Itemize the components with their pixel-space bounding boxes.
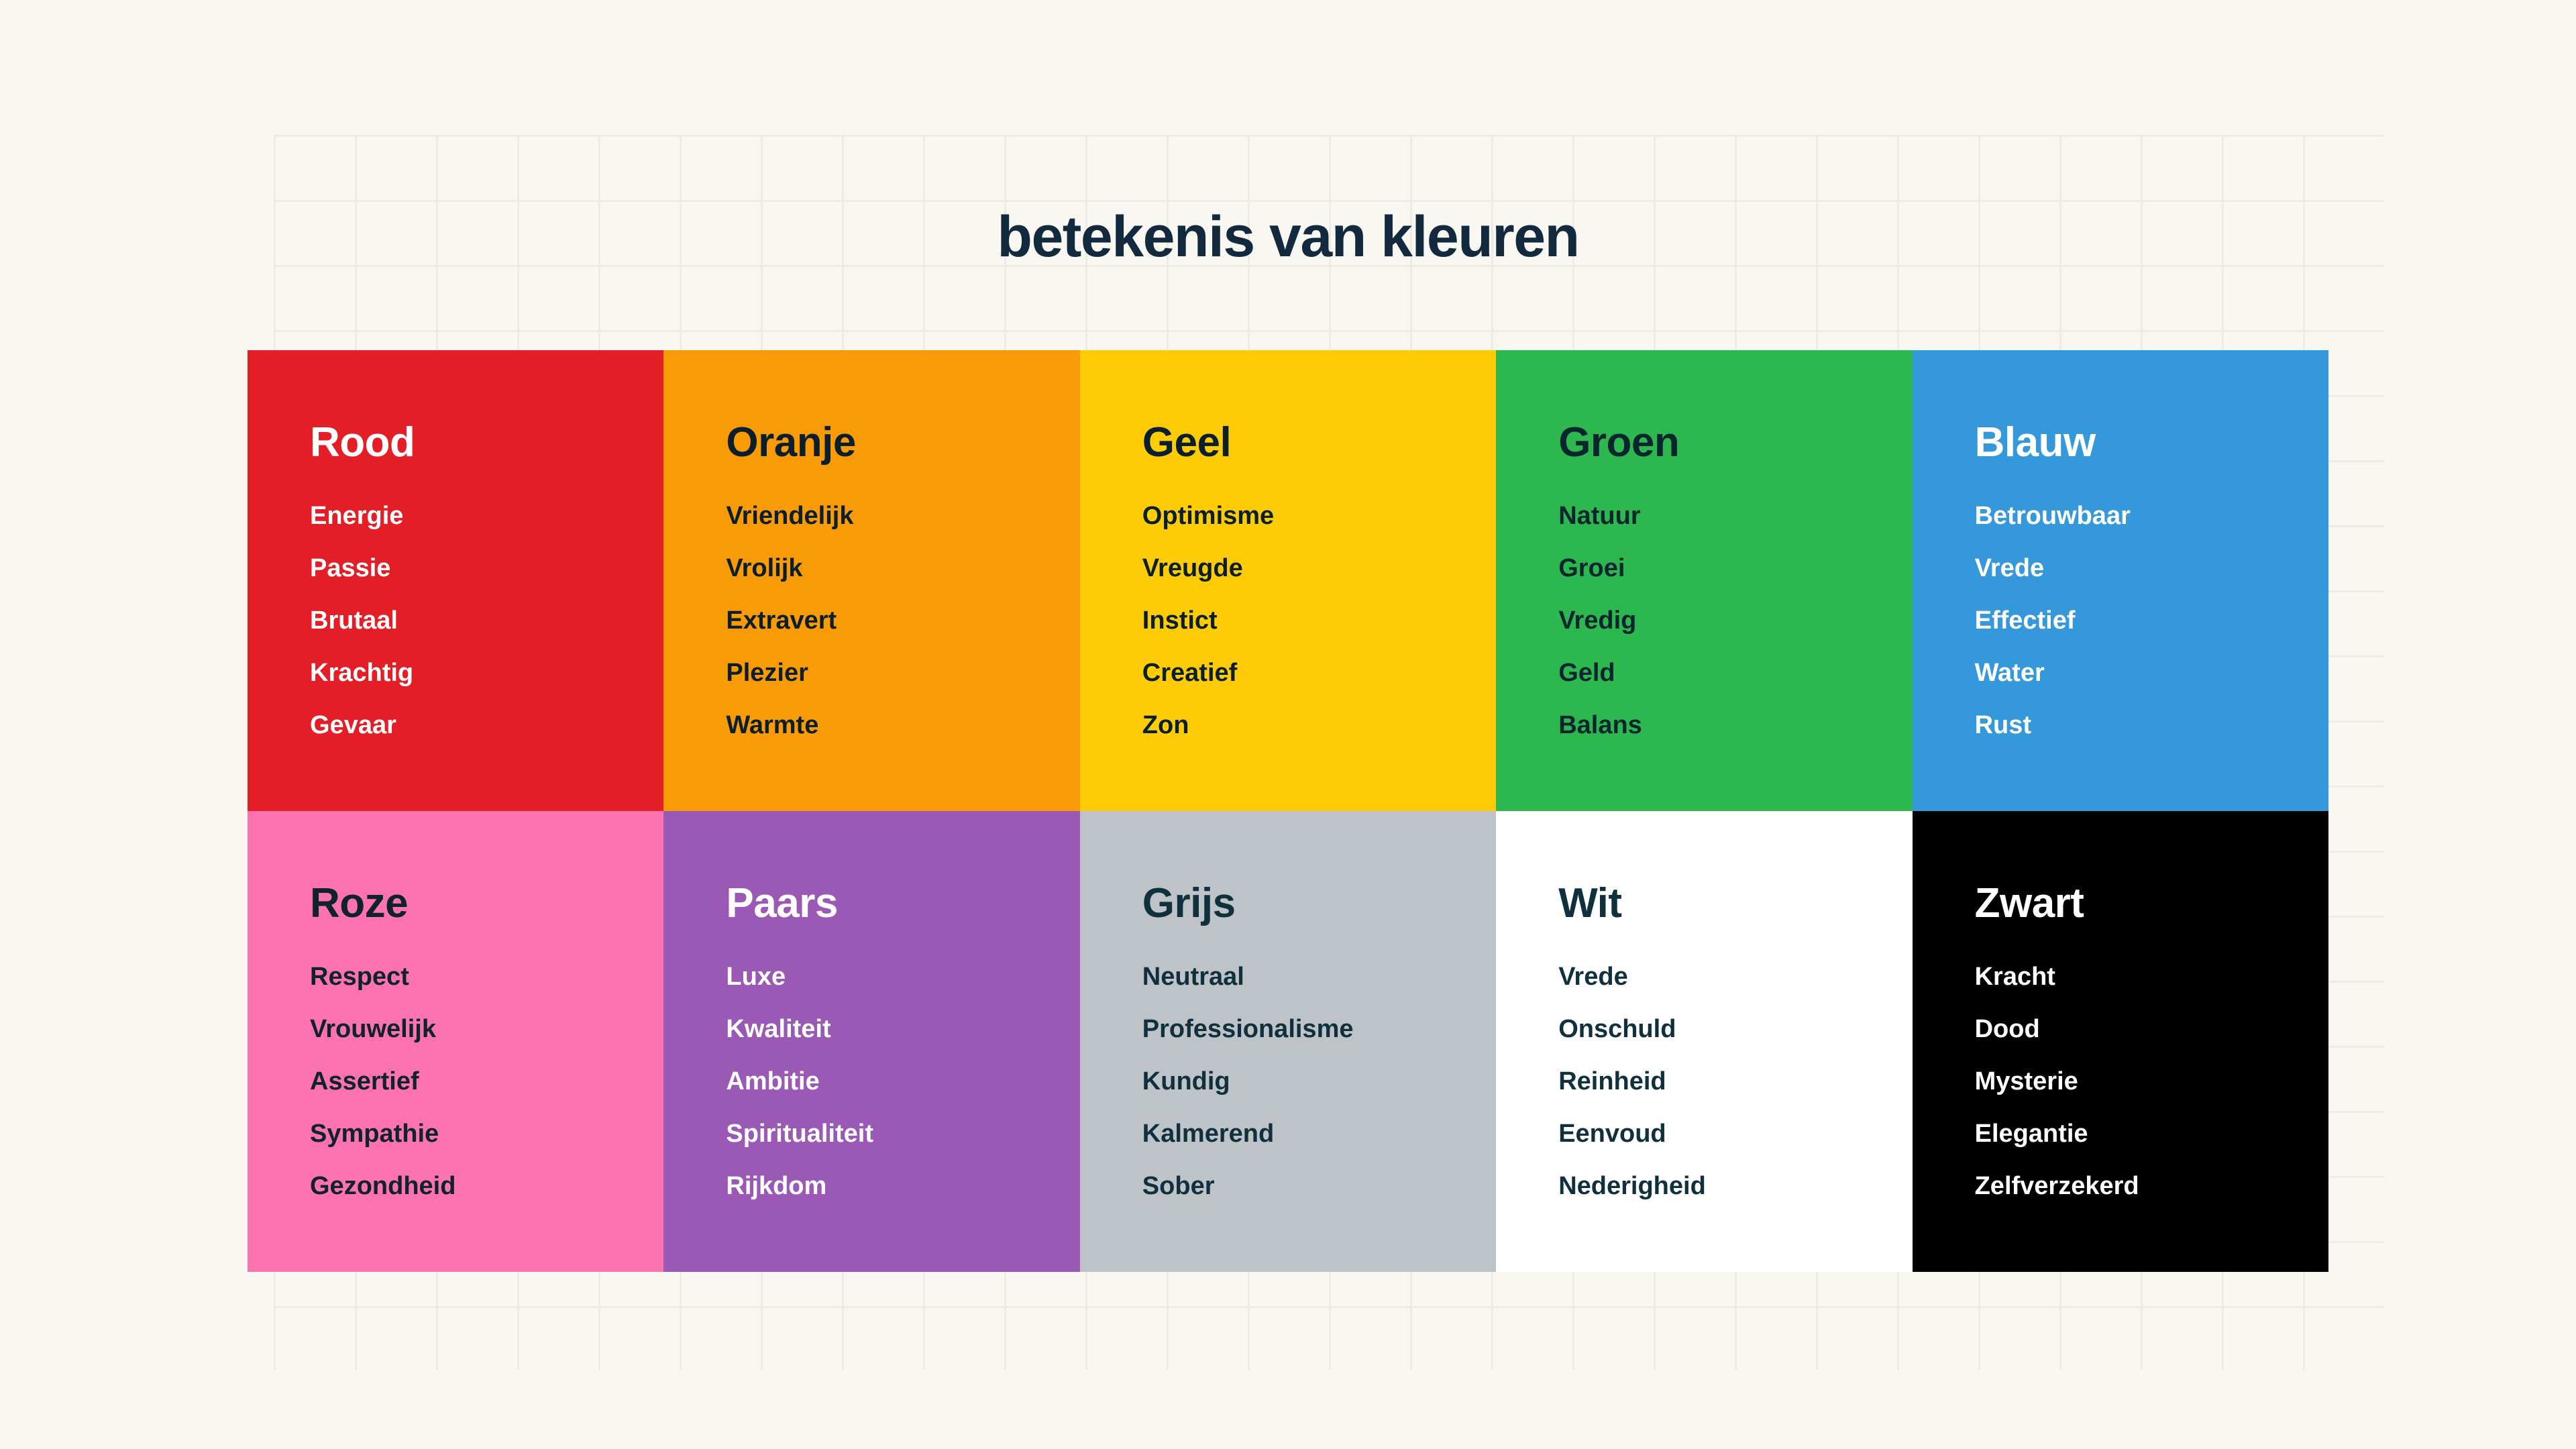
color-keyword-item: Neutraal [1142,964,1496,989]
color-keyword-item: Professionalisme [1142,1016,1496,1042]
color-keyword-item: Energie [310,503,663,529]
color-keyword-list: EnergiePassieBrutaalKrachtigGevaar [310,503,663,738]
color-keyword-item: Water [1975,660,2328,686]
color-keyword-item: Rijkdom [726,1173,1079,1199]
color-card-title: Zwart [1975,881,2328,925]
color-keyword-item: Kalmerend [1142,1121,1496,1146]
color-keyword-item: Rust [1975,712,2328,738]
color-keyword-item: Dood [1975,1016,2328,1042]
color-keyword-list: KrachtDoodMysterieElegantieZelfverzekerd [1975,964,2328,1199]
color-card-groen[interactable]: GroenNatuurGroeiVredigGeldBalans [1496,350,1912,811]
color-keyword-item: Onschuld [1558,1016,1912,1042]
color-keyword-list: RespectVrouwelijkAssertiefSympathieGezon… [310,964,663,1199]
color-keyword-item: Eenvoud [1558,1121,1912,1146]
color-keyword-list: VriendelijkVrolijkExtravertPlezierWarmte [726,503,1079,738]
color-card-title: Grijs [1142,881,1496,925]
color-card-wit[interactable]: WitVredeOnschuldReinheidEenvoudNederighe… [1496,811,1912,1272]
color-keyword-item: Krachtig [310,660,663,686]
color-card-roze[interactable]: RozeRespectVrouwelijkAssertiefSympathieG… [248,811,663,1272]
color-keyword-item: Vrede [1558,964,1912,989]
color-keyword-item: Vrolijk [726,555,1079,581]
color-card-title: Paars [726,881,1079,925]
color-keyword-item: Spiritualiteit [726,1121,1079,1146]
color-keyword-list: NeutraalProfessionalismeKundigKalmerendS… [1142,964,1496,1199]
color-card-title: Oranje [726,421,1079,464]
color-keyword-item: Kundig [1142,1069,1496,1094]
color-keyword-item: Vrede [1975,555,2328,581]
color-keyword-item: Mysterie [1975,1069,2328,1094]
color-keyword-list: BetrouwbaarVredeEffectiefWaterRust [1975,503,2328,738]
color-card-title: Groen [1558,421,1912,464]
color-keyword-item: Creatief [1142,660,1496,686]
color-keyword-item: Sober [1142,1173,1496,1199]
color-keyword-item: Zon [1142,712,1496,738]
color-meaning-grid: RoodEnergiePassieBrutaalKrachtigGevaarOr… [248,350,2328,1272]
color-card-title: Rood [310,421,663,464]
color-keyword-item: Natuur [1558,503,1912,529]
color-keyword-item: Kracht [1975,964,2328,989]
color-card-geel[interactable]: GeelOptimismeVreugdeInstictCreatiefZon [1080,350,1496,811]
color-keyword-item: Ambitie [726,1069,1079,1094]
color-keyword-item: Warmte [726,712,1079,738]
color-keyword-list: VredeOnschuldReinheidEenvoudNederigheid [1558,964,1912,1199]
color-keyword-item: Vrouwelijk [310,1016,663,1042]
color-card-oranje[interactable]: OranjeVriendelijkVrolijkExtravertPlezier… [663,350,1079,811]
color-keyword-item: Passie [310,555,663,581]
color-keyword-item: Luxe [726,964,1079,989]
color-keyword-item: Elegantie [1975,1121,2328,1146]
color-keyword-list: OptimismeVreugdeInstictCreatiefZon [1142,503,1496,738]
color-keyword-item: Kwaliteit [726,1016,1079,1042]
color-card-title: Geel [1142,421,1496,464]
color-card-paars[interactable]: PaarsLuxeKwaliteitAmbitieSpiritualiteitR… [663,811,1079,1272]
color-card-grijs[interactable]: GrijsNeutraalProfessionalismeKundigKalme… [1080,811,1496,1272]
color-keyword-item: Respect [310,964,663,989]
color-keyword-item: Vriendelijk [726,503,1079,529]
color-keyword-list: NatuurGroeiVredigGeldBalans [1558,503,1912,738]
color-card-rood[interactable]: RoodEnergiePassieBrutaalKrachtigGevaar [248,350,663,811]
color-keyword-item: Gevaar [310,712,663,738]
color-keyword-item: Instict [1142,608,1496,633]
page-title: betekenis van kleuren [0,204,2576,270]
color-keyword-item: Reinheid [1558,1069,1912,1094]
color-card-title: Roze [310,881,663,925]
color-keyword-item: Zelfverzekerd [1975,1173,2328,1199]
color-keyword-item: Balans [1558,712,1912,738]
color-keyword-item: Geld [1558,660,1912,686]
color-keyword-item: Vredig [1558,608,1912,633]
color-keyword-item: Nederigheid [1558,1173,1912,1199]
color-keyword-item: Optimisme [1142,503,1496,529]
color-keyword-item: Betrouwbaar [1975,503,2328,529]
color-keyword-item: Assertief [310,1069,663,1094]
color-keyword-item: Groei [1558,555,1912,581]
color-keyword-item: Gezondheid [310,1173,663,1199]
color-card-blauw[interactable]: BlauwBetrouwbaarVredeEffectiefWaterRust [1913,350,2328,811]
color-keyword-item: Effectief [1975,608,2328,633]
color-keyword-item: Extravert [726,608,1079,633]
color-keyword-list: LuxeKwaliteitAmbitieSpiritualiteitRijkdo… [726,964,1079,1199]
color-keyword-item: Vreugde [1142,555,1496,581]
color-card-zwart[interactable]: ZwartKrachtDoodMysterieElegantieZelfverz… [1913,811,2328,1272]
color-keyword-item: Sympathie [310,1121,663,1146]
color-card-title: Blauw [1975,421,2328,464]
color-card-title: Wit [1558,881,1912,925]
color-keyword-item: Plezier [726,660,1079,686]
color-keyword-item: Brutaal [310,608,663,633]
